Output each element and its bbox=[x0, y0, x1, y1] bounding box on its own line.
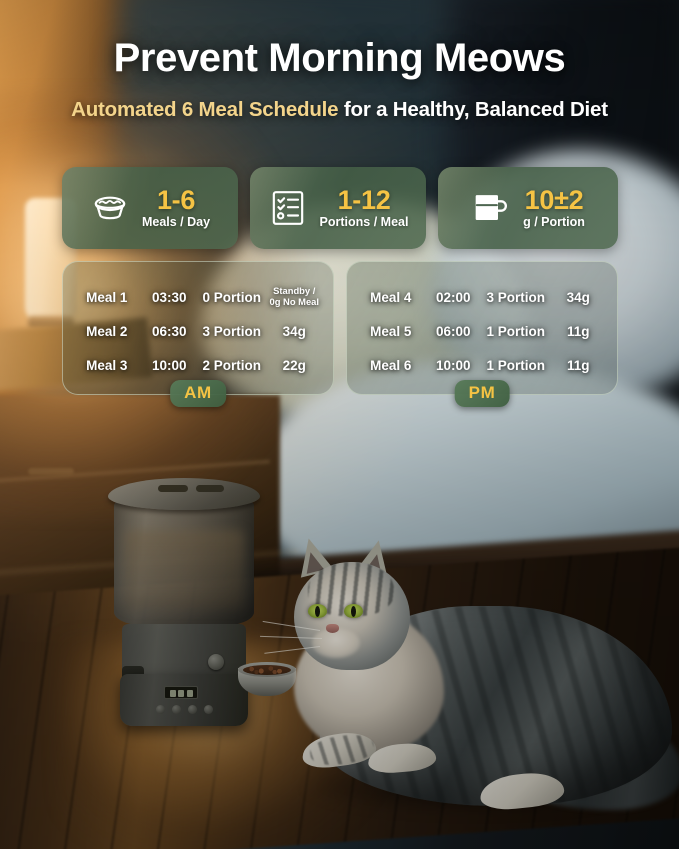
subtitle-highlight: Automated 6 Meal Schedule bbox=[71, 98, 338, 121]
feature-card-grams-per-portion: 10±2 g / Portion bbox=[438, 167, 618, 249]
feature-card-meals-per-day: 1-6 Meals / Day bbox=[62, 167, 238, 249]
feature-value: 1-6 bbox=[142, 186, 210, 214]
meal-grams: 34g bbox=[266, 324, 324, 339]
meal-portion: 1 Portion bbox=[482, 324, 550, 339]
meal-label: Meal 1 bbox=[73, 290, 141, 305]
page-subtitle: Automated 6 Meal Schedule for a Healthy,… bbox=[0, 98, 679, 122]
meal-time: 03:30 bbox=[141, 290, 199, 305]
table-row: Meal 4 02:00 3 Portion 34g bbox=[357, 280, 607, 314]
schedule-panel-row: Meal 1 03:30 0 Portion Standby / 0g No M… bbox=[62, 261, 618, 395]
feature-value: 1-12 bbox=[320, 186, 409, 214]
feature-card-text: 10±2 g / Portion bbox=[523, 186, 585, 229]
meal-grams: 11g bbox=[550, 358, 608, 373]
product-infographic: Prevent Morning Meows Automated 6 Meal S… bbox=[0, 0, 679, 849]
subtitle-rest: for a Healthy, Balanced Diet bbox=[338, 98, 608, 121]
meal-label: Meal 2 bbox=[73, 324, 141, 339]
measuring-cup-icon bbox=[471, 188, 511, 228]
feature-card-text: 1-6 Meals / Day bbox=[142, 186, 210, 229]
status-badge-pm: PM bbox=[455, 380, 510, 407]
feature-card-portions-per-meal: 1-12 Portions / Meal bbox=[250, 167, 426, 249]
meal-portion: 3 Portion bbox=[198, 324, 266, 339]
meal-portion: 1 Portion bbox=[482, 358, 550, 373]
meal-portion: 0 Portion bbox=[198, 290, 266, 305]
pet-bowl-icon bbox=[90, 188, 130, 228]
table-row: Meal 3 10:00 2 Portion 22g bbox=[73, 348, 323, 382]
meal-label: Meal 3 bbox=[73, 358, 141, 373]
status-badge-am: AM bbox=[170, 380, 226, 407]
overlay-content: Prevent Morning Meows Automated 6 Meal S… bbox=[0, 0, 679, 849]
meal-time: 06:30 bbox=[141, 324, 199, 339]
meal-time: 10:00 bbox=[425, 358, 483, 373]
feature-label: g / Portion bbox=[523, 215, 585, 230]
meal-grams: 11g bbox=[550, 324, 608, 339]
feature-card-text: 1-12 Portions / Meal bbox=[320, 186, 409, 229]
meal-portion: 2 Portion bbox=[198, 358, 266, 373]
schedule-panel-pm: Meal 4 02:00 3 Portion 34g Meal 5 06:00 … bbox=[346, 261, 618, 395]
feature-label: Meals / Day bbox=[142, 215, 210, 230]
meal-time: 10:00 bbox=[141, 358, 199, 373]
meal-label: Meal 5 bbox=[357, 324, 425, 339]
meal-time: 02:00 bbox=[425, 290, 483, 305]
schedule-panel-am: Meal 1 03:30 0 Portion Standby / 0g No M… bbox=[62, 261, 334, 395]
table-row: Meal 2 06:30 3 Portion 34g bbox=[73, 314, 323, 348]
page-title: Prevent Morning Meows bbox=[0, 36, 679, 81]
meal-grams: Standby / 0g No Meal bbox=[266, 286, 324, 307]
table-row: Meal 5 06:00 1 Portion 11g bbox=[357, 314, 607, 348]
meal-grams: 22g bbox=[266, 358, 324, 373]
table-row: Meal 6 10:00 1 Portion 11g bbox=[357, 348, 607, 382]
feature-card-row: 1-6 Meals / Day 1-12 Portions / bbox=[62, 167, 618, 249]
table-row: Meal 1 03:30 0 Portion Standby / 0g No M… bbox=[73, 280, 323, 314]
meal-grams: 34g bbox=[550, 290, 608, 305]
meal-label: Meal 6 bbox=[357, 358, 425, 373]
meal-time: 06:00 bbox=[425, 324, 483, 339]
meal-portion: 3 Portion bbox=[482, 290, 550, 305]
feature-value: 10±2 bbox=[523, 186, 585, 214]
meal-label: Meal 4 bbox=[357, 290, 425, 305]
checklist-icon bbox=[268, 188, 308, 228]
feature-label: Portions / Meal bbox=[320, 215, 409, 230]
